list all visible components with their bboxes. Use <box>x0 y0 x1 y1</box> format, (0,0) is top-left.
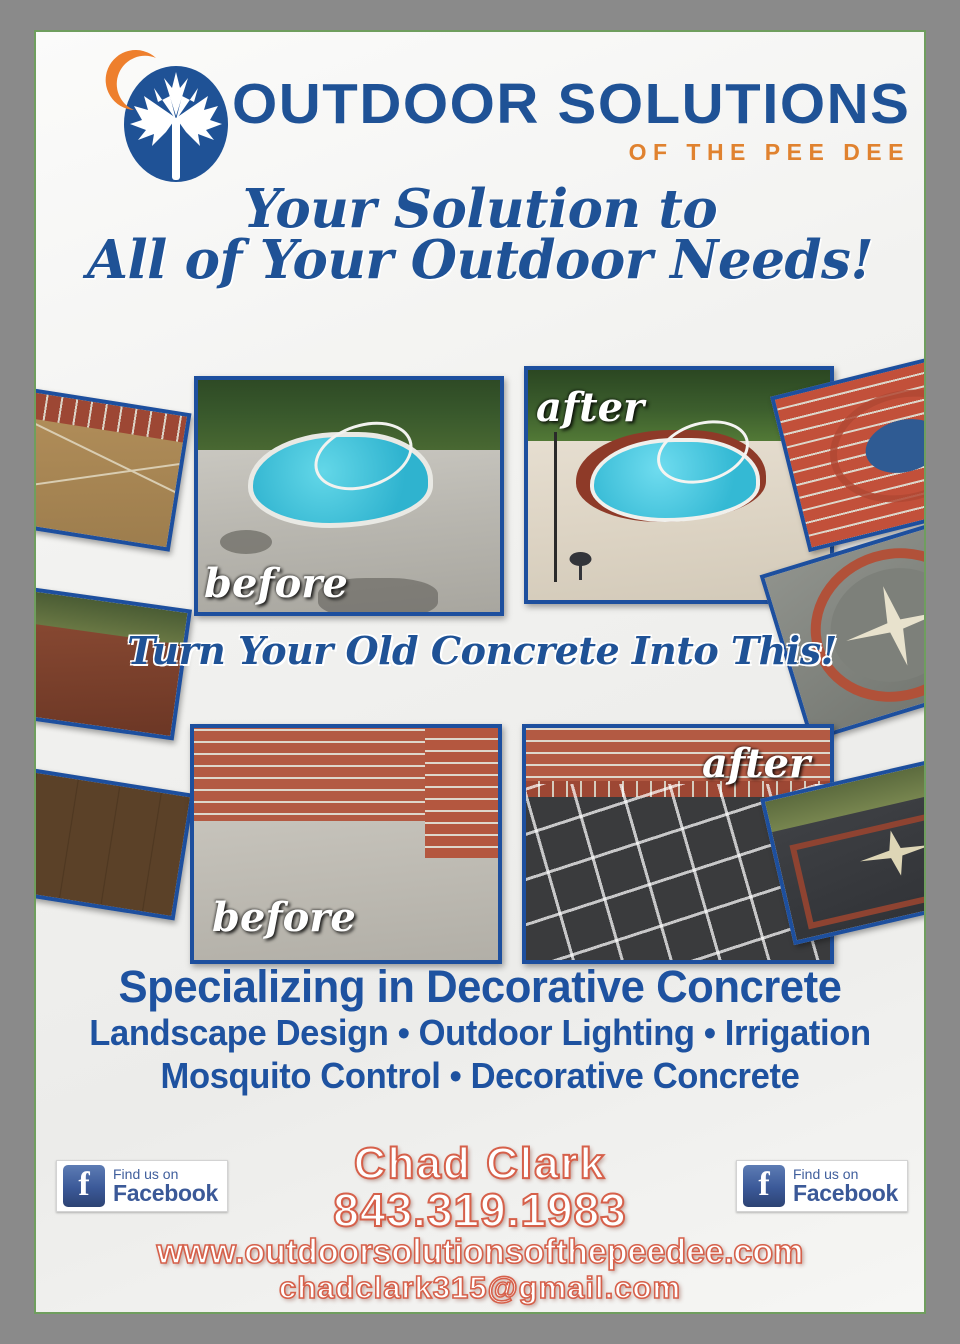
facebook-letter: f <box>63 1165 105 1207</box>
photo-tan-stained-patio <box>34 376 191 552</box>
facebook-brand-label: Facebook <box>793 1182 898 1205</box>
contact-website[interactable]: www.outdoorsolutionsofthepeedee.com <box>36 1234 924 1271</box>
facebook-badge-text: Find us on Facebook <box>113 1167 218 1205</box>
facebook-badge-text: Find us on Facebook <box>793 1167 898 1205</box>
brand-subtitle: OF THE PEE DEE <box>232 139 922 166</box>
services-headline: Specializing in Decorative Concrete <box>49 962 910 1012</box>
facebook-brand-label: Facebook <box>113 1182 218 1205</box>
flyer-page: OUTDOOR SOLUTIONS OF THE PEE DEE Your So… <box>34 30 926 1314</box>
contact-email[interactable]: chadclark315@gmail.com <box>36 1271 924 1305</box>
tagline-line-1: Your Solution to <box>36 184 924 235</box>
facebook-find-us-label: Find us on <box>793 1167 898 1181</box>
facebook-f-icon: f <box>743 1165 785 1207</box>
facebook-letter: f <box>743 1165 785 1207</box>
facebook-find-us-label: Find us on <box>113 1167 218 1181</box>
tagline-line-2: All of Your Outdoor Needs! <box>36 235 924 286</box>
photo-brick-patio-before <box>190 724 502 964</box>
photo-pool-deck-before <box>194 376 504 616</box>
palmetto-crescent-logo <box>100 50 230 180</box>
palmetto-tree-icon <box>124 66 228 182</box>
services-line-3: Mosquito Control • Decorative Concrete <box>54 1055 906 1097</box>
services-block: Specializing in Decorative Concrete Land… <box>36 962 924 1097</box>
brand-name: OUTDOOR SOLUTIONS <box>232 76 926 133</box>
photo-wood-plank-stamped-concrete <box>34 756 194 921</box>
header: OUTDOOR SOLUTIONS OF THE PEE DEE <box>36 32 924 192</box>
collage-middle-banner: Turn Your Old Concrete Into This! <box>36 628 926 673</box>
palmetto-stamp-icon <box>568 548 594 580</box>
services-line-2: Landscape Design • Outdoor Lighting • Ir… <box>54 1012 906 1054</box>
facebook-badge-left[interactable]: f Find us on Facebook <box>56 1160 228 1212</box>
brand-wordmark: OUTDOOR SOLUTIONS OF THE PEE DEE <box>232 76 922 166</box>
facebook-f-icon: f <box>63 1165 105 1207</box>
tagline: Your Solution to All of Your Outdoor Nee… <box>36 184 924 287</box>
facebook-badge-right[interactable]: f Find us on Facebook <box>736 1160 908 1212</box>
